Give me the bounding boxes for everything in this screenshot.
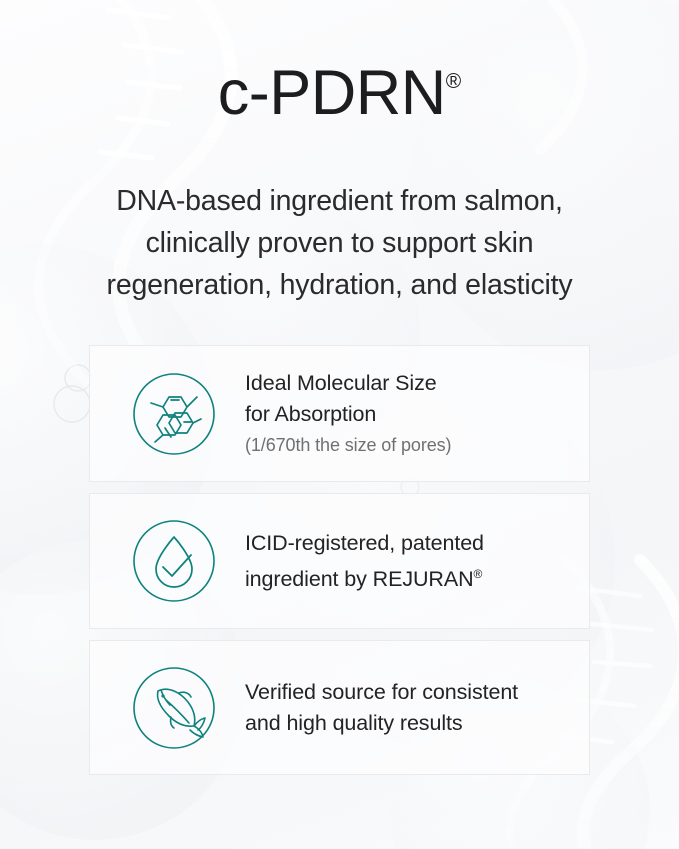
feature-card-title: Ideal Molecular Size for Absorption xyxy=(245,368,575,430)
registered-trademark-icon: ® xyxy=(446,70,461,93)
feature-card-title: ICID-registered, patented ingredient by … xyxy=(245,528,575,595)
subtitle-line-3: regeneration, hydration, and elasticity xyxy=(0,264,679,306)
feature-card-text: ICID-registered, patented ingredient by … xyxy=(245,528,589,595)
subtitle-line-2: clinically proven to support skin xyxy=(0,222,679,264)
feature-card-list: Ideal Molecular Size for Absorption (1/6… xyxy=(89,345,590,775)
subtitle-line-1: DNA-based ingredient from salmon, xyxy=(0,180,679,222)
feature-card-icid-registered: ICID-registered, patented ingredient by … xyxy=(89,493,590,629)
page-title-text: c-PDRN xyxy=(218,58,446,128)
page-title: c-PDRN® xyxy=(0,62,679,125)
molecule-icon xyxy=(132,372,216,456)
feature-card-molecular-size: Ideal Molecular Size for Absorption (1/6… xyxy=(89,345,590,482)
feature-card-subtext: (1/670th the size of pores) xyxy=(245,431,575,460)
feature-card-text: Verified source for consistent and high … xyxy=(245,677,589,739)
water-drop-check-icon xyxy=(132,519,216,603)
page-content: c-PDRN® DNA-based ingredient from salmon… xyxy=(0,0,679,849)
subtitle: DNA-based ingredient from salmon, clinic… xyxy=(0,180,679,306)
feature-card-title-text: ICID-registered, patented ingredient by … xyxy=(245,531,484,591)
fish-icon xyxy=(132,666,216,750)
feature-card-verified-source: Verified source for consistent and high … xyxy=(89,640,590,775)
feature-card-title: Verified source for consistent and high … xyxy=(245,677,575,739)
feature-card-text: Ideal Molecular Size for Absorption (1/6… xyxy=(245,368,589,460)
registered-trademark-icon: ® xyxy=(474,567,483,581)
